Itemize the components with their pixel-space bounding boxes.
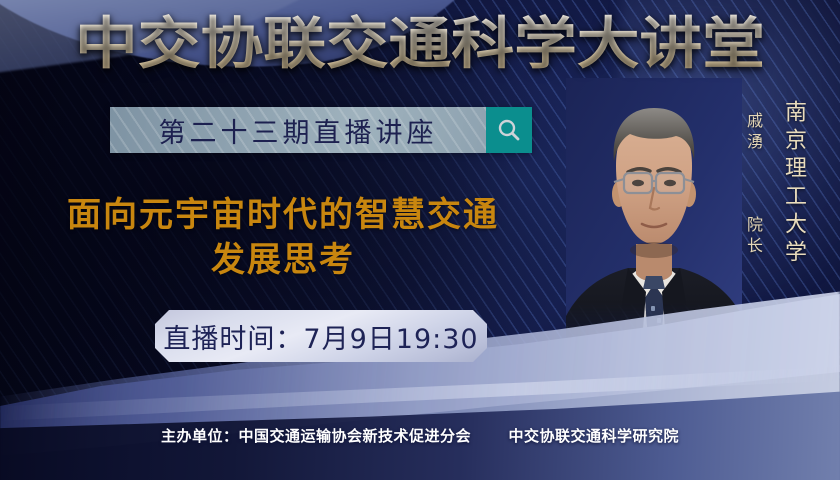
- speaker-affiliation: 南京理工大学: [777, 100, 809, 268]
- search-icon: [496, 117, 522, 143]
- speaker-name-title: 戚湧 院长: [741, 112, 765, 258]
- webinar-poster: 中交协联交通科学大讲堂 第二十三期直播讲座 面向元宇宙时代的智慧交通 发展思考 …: [0, 0, 840, 480]
- series-bar: 第二十三期直播讲座: [110, 107, 532, 153]
- series-label: 第二十三期直播讲座: [159, 111, 438, 150]
- search-button[interactable]: [486, 107, 532, 153]
- page-title: 中交协联交通科学大讲堂: [0, 14, 840, 76]
- speaker-title: 院长: [744, 216, 763, 258]
- series-label-box: 第二十三期直播讲座: [110, 107, 486, 153]
- organizer-primary: 主办单位：中国交通运输协会新技术促进分会: [161, 427, 471, 445]
- speaker-portrait: [566, 78, 742, 366]
- broadcast-time-badge: 直播时间：7月9日19:30: [155, 310, 487, 362]
- lecture-title: 面向元宇宙时代的智慧交通 发展思考: [18, 193, 548, 283]
- organizer-footer: 主办单位：中国交通运输协会新技术促进分会 中交协联交通科学研究院: [0, 425, 840, 446]
- lecture-title-line1: 面向元宇宙时代的智慧交通: [67, 195, 499, 235]
- organizer-secondary: 中交协联交通科学研究院: [508, 427, 679, 445]
- broadcast-time-label: 直播时间：7月9日19:30: [163, 317, 478, 356]
- lecture-title-line2: 发展思考: [18, 238, 548, 283]
- speaker-name: 戚湧: [744, 112, 763, 154]
